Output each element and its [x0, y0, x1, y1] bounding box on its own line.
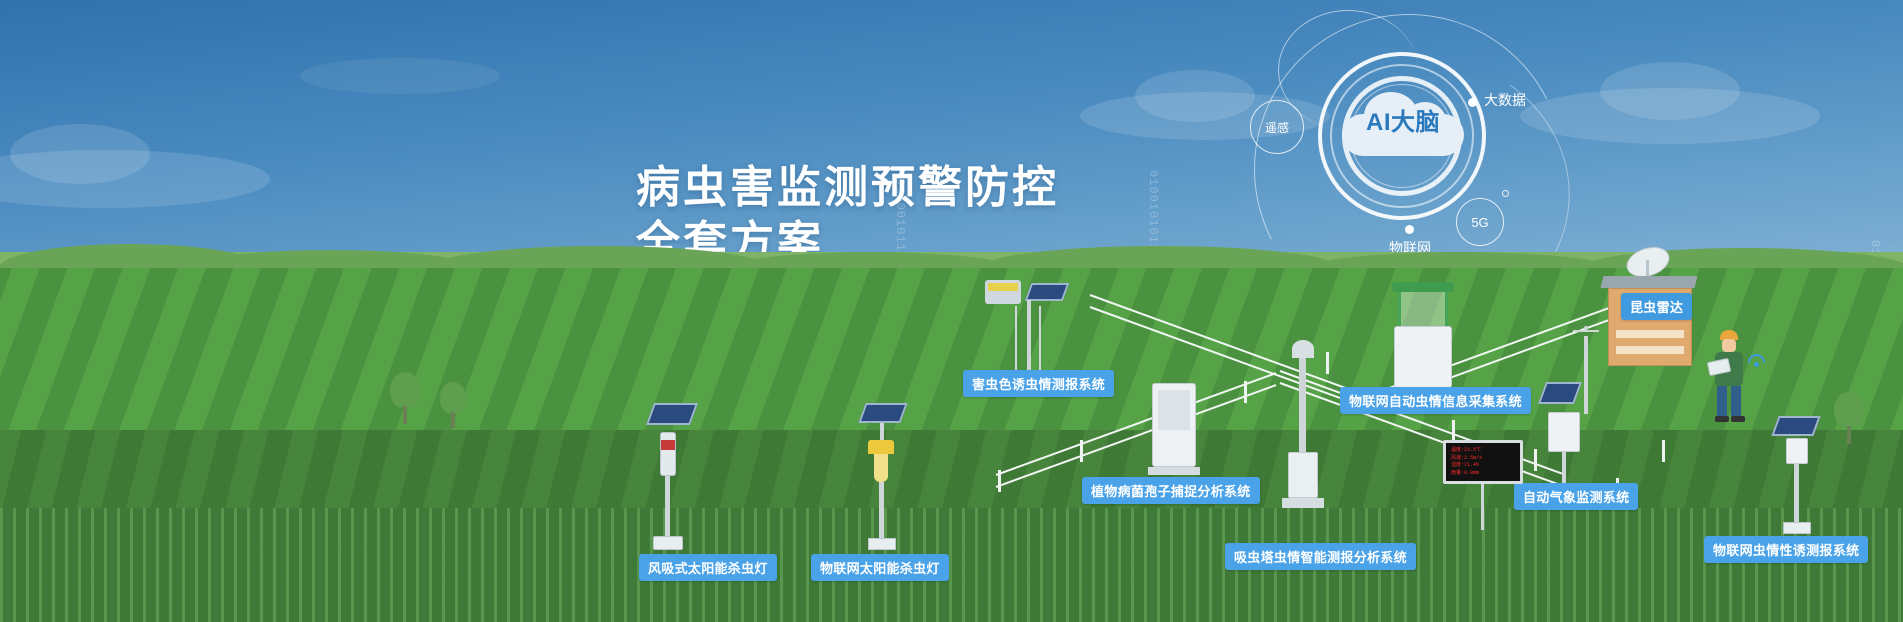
- weather-cabinet: [1548, 412, 1580, 452]
- label-insect-suction-tower-forecast: 吸虫塔虫情智能测报分析系统: [1225, 543, 1416, 570]
- pest-monitoring-banner: 01000101101101011010 0100101011010010110…: [0, 0, 1903, 622]
- cloud-shape: [0, 150, 270, 208]
- label-insect-radar: 昆虫雷达: [1621, 293, 1692, 320]
- label-pest-color-lure-forecast-system: 害虫色诱虫情测报系统: [963, 370, 1114, 397]
- led-line-4: 雨量:0.0mm: [1451, 470, 1515, 478]
- led-display-board: 温度:23.5℃ 风速:2.5m/s 湿度:71.4% 雨量:0.0mm: [1443, 440, 1523, 484]
- node-5g-label: 5G: [1471, 215, 1488, 230]
- led-line-1: 温度:23.5℃: [1451, 447, 1515, 455]
- label-wind-suction-solar-insect-lamp: 风吸式太阳能杀虫灯: [639, 554, 777, 581]
- spore-panel: [1158, 390, 1190, 430]
- led-line-2: 风速:2.5m/s: [1451, 455, 1515, 463]
- worker-shoe: [1715, 416, 1729, 422]
- collector-roof: [1392, 282, 1454, 292]
- ai-brain-hub: AI大脑 遥感 5G 大数据 物联网: [1150, 20, 1570, 280]
- label-iot-auto-pest-info-collection: 物联网自动虫情信息采集系统: [1340, 387, 1531, 414]
- worker-leg: [1717, 386, 1727, 416]
- anemometer: [1573, 326, 1599, 336]
- led-display-pole: [1481, 484, 1484, 530]
- ai-brain-label: AI大脑: [1342, 102, 1464, 137]
- lamp-indicator: [661, 440, 675, 450]
- building-window-row: [1616, 346, 1684, 354]
- field-worker: [1702, 330, 1756, 422]
- tower-base: [1282, 498, 1324, 508]
- node-remote-sensing-label: 遥感: [1265, 119, 1289, 136]
- label-iot-pest-pheromone-forecast: 物联网虫情性诱测报系统: [1704, 536, 1868, 563]
- node-big-data-dot: [1468, 98, 1477, 107]
- tower-head: [1292, 340, 1314, 358]
- collector-body: [1394, 326, 1452, 388]
- node-5g[interactable]: 5G: [1456, 198, 1504, 246]
- spore-base: [1148, 467, 1200, 475]
- tree: [438, 382, 468, 428]
- collector-cage: [1398, 292, 1448, 326]
- title-line-1: 病虫害监测预警防控: [636, 160, 1059, 215]
- lure-color-strip: [988, 283, 1018, 291]
- lamp-hood: [868, 440, 894, 454]
- pheromone-trap: [1786, 438, 1808, 464]
- worker-head: [1722, 339, 1736, 352]
- ladder-frame: [1015, 306, 1041, 372]
- building-window-row: [1616, 330, 1684, 338]
- radar-roof: [1601, 276, 1698, 288]
- label-plant-spore-capture-analysis: 植物病菌孢子捕捉分析系统: [1082, 477, 1260, 504]
- lamp-funnel: [874, 454, 888, 482]
- label-iot-solar-insect-lamp: 物联网太阳能杀虫灯: [811, 554, 949, 581]
- tree: [388, 372, 422, 424]
- led-line-3: 湿度:71.4%: [1451, 462, 1515, 470]
- worker-leg: [1731, 386, 1741, 416]
- connector-endpoint-dot: [1502, 190, 1509, 197]
- label-auto-weather-monitoring-system: 自动气象监测系统: [1514, 483, 1638, 510]
- node-iot-dot: [1405, 225, 1414, 234]
- worker-shoe: [1731, 416, 1745, 422]
- node-remote-sensing[interactable]: 遥感: [1250, 100, 1304, 154]
- wifi-icon: [1744, 346, 1768, 366]
- tower-cabinet: [1288, 452, 1318, 498]
- cloud-shape: [300, 58, 500, 94]
- node-big-data-label: 大数据: [1484, 90, 1526, 110]
- tree: [1832, 392, 1866, 444]
